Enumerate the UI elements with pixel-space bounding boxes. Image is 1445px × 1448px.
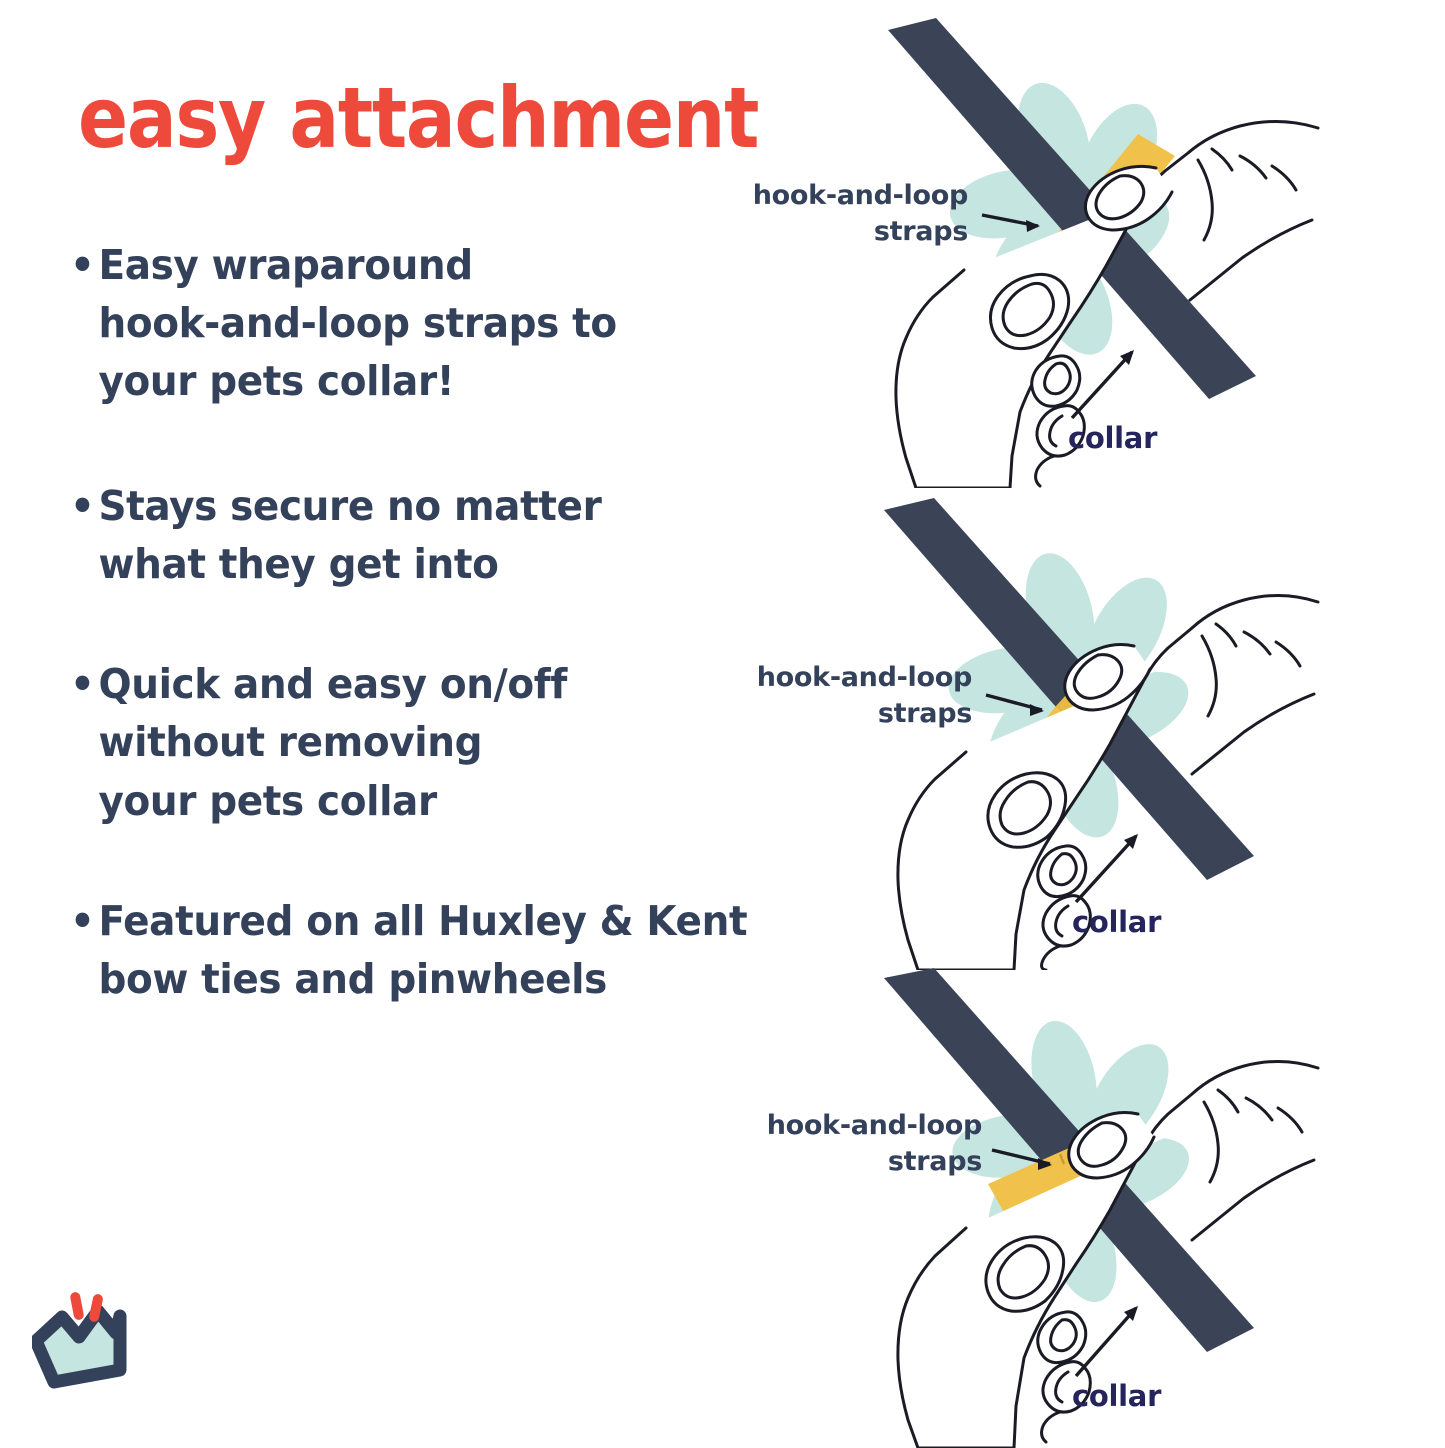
collar-label-text: collar bbox=[1072, 905, 1162, 939]
huxley-and-kent-crown-logo bbox=[32, 1286, 162, 1418]
hook-and-loop-label-line1: hook-and-loop bbox=[757, 662, 972, 693]
collar-arrow bbox=[1072, 350, 1134, 418]
hook-and-loop-label-line1: hook-and-loop bbox=[753, 180, 968, 211]
left-content-column: easy attachment • Easy wraparound hook-a… bbox=[0, 0, 730, 1445]
poster-canvas: easy attachment • Easy wraparound hook-a… bbox=[0, 0, 1445, 1445]
page-title: easy attachment bbox=[78, 76, 758, 160]
hook-and-loop-label: hook-and-loop straps bbox=[757, 662, 972, 729]
illustration-step-3: hook-and-loop straps collar bbox=[720, 968, 1320, 1448]
hook-and-loop-label-line2: straps bbox=[878, 698, 972, 729]
collar-label-text: collar bbox=[1072, 1379, 1162, 1413]
hook-and-loop-label: hook-and-loop straps bbox=[767, 1110, 982, 1177]
hook-and-loop-label: hook-and-loop straps bbox=[753, 180, 968, 247]
illustration-step-1: hook-and-loop straps collar bbox=[720, 8, 1320, 488]
illustration-step-2: hook-and-loop straps collar bbox=[720, 490, 1320, 970]
bullet-marker: • bbox=[70, 892, 99, 950]
collar-label: collar bbox=[1068, 421, 1158, 455]
hook-and-loop-label-line1: hook-and-loop bbox=[767, 1110, 982, 1141]
collar-label-text: collar bbox=[1068, 421, 1158, 455]
bullet-marker: • bbox=[70, 236, 99, 294]
collar-label: collar bbox=[1072, 1379, 1162, 1413]
hook-and-loop-label-line2: straps bbox=[874, 216, 968, 247]
crown-icon bbox=[36, 1311, 120, 1382]
hook-and-loop-label-line2: straps bbox=[888, 1146, 982, 1177]
collar-label: collar bbox=[1072, 905, 1162, 939]
bullet-marker: • bbox=[70, 477, 99, 535]
bullet-marker: • bbox=[70, 655, 99, 713]
